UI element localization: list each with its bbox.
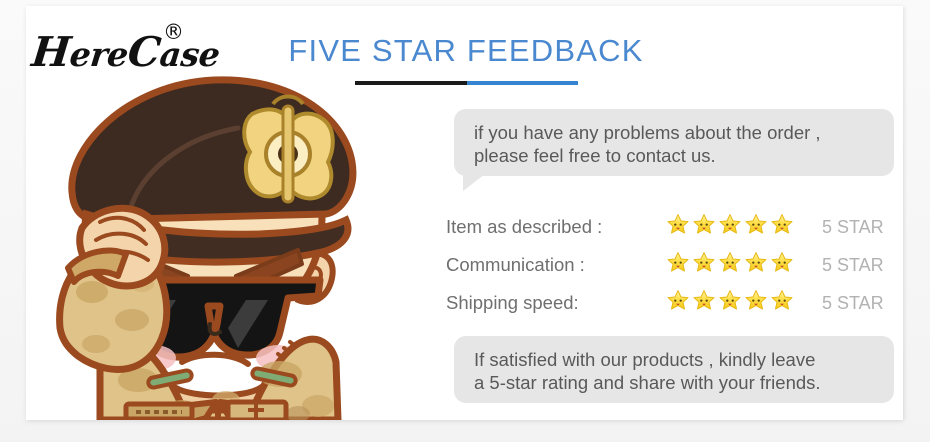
rating-stars <box>666 251 798 280</box>
rating-stars <box>666 213 798 242</box>
rating-row: Item as described : 5 STAR <box>446 208 894 246</box>
star-icon <box>744 213 768 242</box>
rating-stars <box>666 289 798 318</box>
rating-value: 5 STAR <box>798 217 884 238</box>
star-icon <box>666 251 690 280</box>
rating-value: 5 STAR <box>798 293 884 314</box>
star-icon <box>718 213 742 242</box>
rating-list: Item as described : 5 STAR Communication… <box>446 208 894 322</box>
satisfaction-message-bubble: If satisfied with our products , kindly … <box>454 336 894 403</box>
rating-row: Shipping speed: 5 STAR <box>446 284 894 322</box>
star-icon <box>666 289 690 318</box>
rating-label: Item as described : <box>446 216 666 238</box>
star-icon <box>666 213 690 242</box>
star-icon <box>692 289 716 318</box>
rating-row: Communication : 5 STAR <box>446 246 894 284</box>
rating-label: Shipping speed: <box>446 292 666 314</box>
rating-value: 5 STAR <box>798 255 884 276</box>
satisfaction-message-line-1: If satisfied with our products , kindly … <box>474 348 876 371</box>
saluting-soldier-illustration <box>30 62 390 420</box>
satisfaction-message-line-2: a 5-star rating and share with your frie… <box>474 371 876 394</box>
contact-message-line-1: if you have any problems about the order… <box>474 121 876 144</box>
star-icon <box>692 213 716 242</box>
feedback-content: if you have any problems about the order… <box>446 104 894 404</box>
star-icon <box>718 251 742 280</box>
star-icon <box>744 289 768 318</box>
registered-trademark-icon: ® <box>163 22 184 43</box>
star-icon <box>692 251 716 280</box>
rating-label: Communication : <box>446 254 666 276</box>
star-icon <box>718 289 742 318</box>
bubble-tail <box>463 171 489 191</box>
title-rule-blue-segment <box>467 81 579 85</box>
star-icon <box>744 251 768 280</box>
feedback-banner: HereCase ® FIVE STAR FEEDBACK <box>0 0 930 442</box>
star-icon <box>770 289 794 318</box>
star-icon <box>770 251 794 280</box>
contact-message-line-2: please feel free to contact us. <box>474 144 876 167</box>
contact-message-bubble: if you have any problems about the order… <box>454 109 894 176</box>
star-icon <box>770 213 794 242</box>
